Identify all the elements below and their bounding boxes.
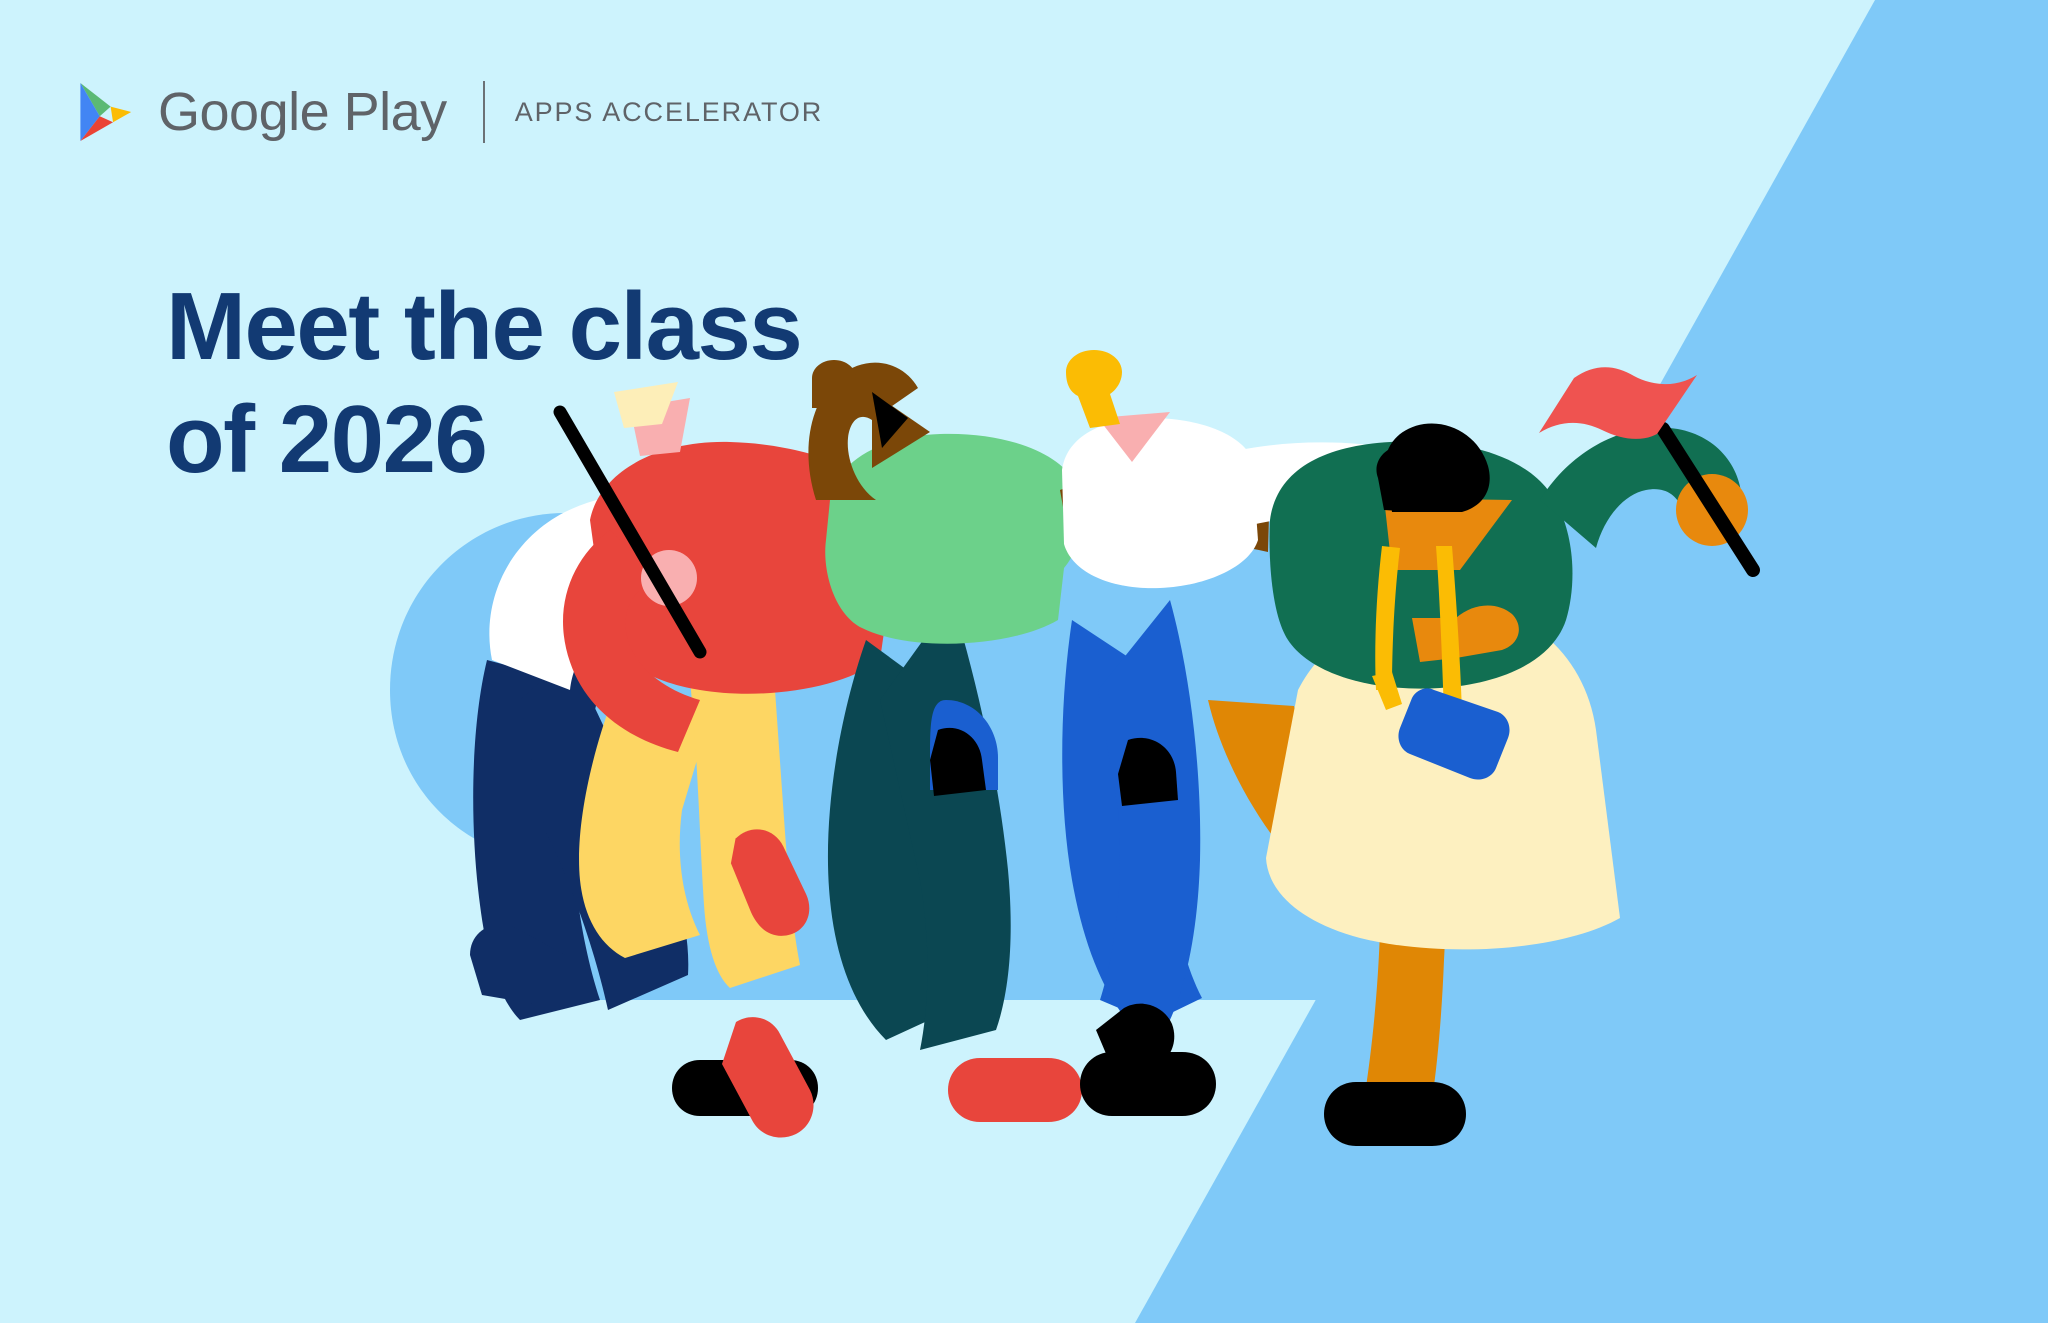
figure-3-fist (812, 360, 856, 408)
figure-2-shoe-red-2 (722, 1017, 814, 1137)
brand-divider (483, 81, 485, 143)
figure-4-hair (1066, 350, 1122, 428)
page-title: Meet the class of 2026 (166, 270, 801, 497)
brand-lockup[interactable]: Google Play APPS ACCELERATOR (78, 80, 823, 144)
figure-5-shoe-front (1324, 1082, 1466, 1146)
program-name: APPS ACCELERATOR (515, 99, 824, 126)
figure-4-torso (1062, 418, 1258, 588)
marching-people-illustration (0, 0, 2048, 1323)
headline-line-2: of 2026 (166, 383, 801, 496)
figure-5-flag (1539, 367, 1697, 439)
headline-line-1: Meet the class (166, 270, 801, 383)
figure-3-torso (825, 434, 1082, 644)
figure-3-shoe-red (948, 1058, 1082, 1122)
poster-canvas: Google Play APPS ACCELERATOR Meet the cl… (0, 0, 2048, 1323)
brand-wordmark: Google Play (158, 85, 447, 139)
google-play-triangle-icon (78, 80, 136, 144)
